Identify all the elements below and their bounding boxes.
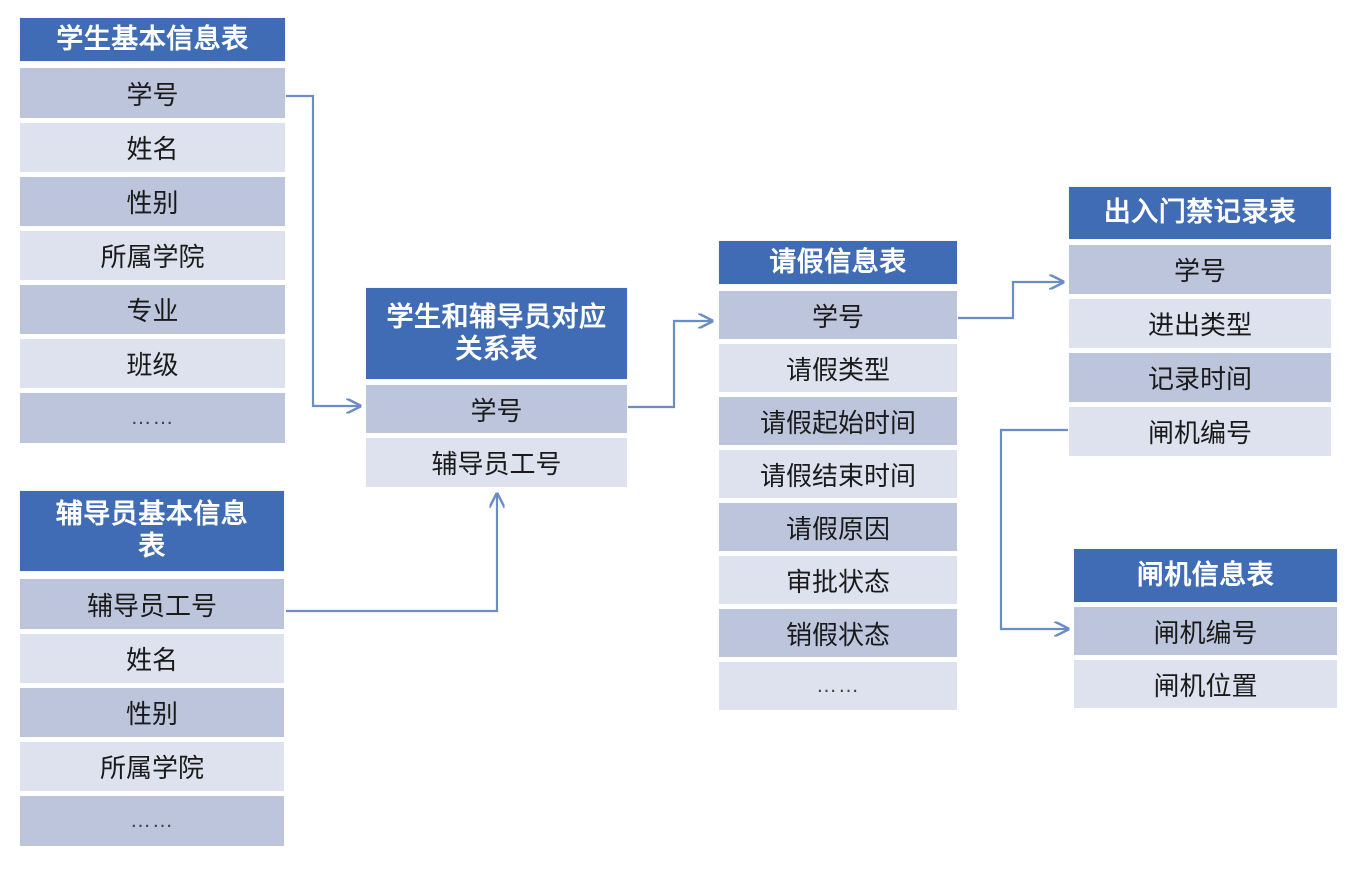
connector-leave-to-access: [958, 282, 1063, 318]
table-leave-field-2[interactable]: 请假起始时间: [718, 396, 958, 446]
table-student[interactable]: 学生基本信息表 学号 姓名 性别 所属学院 专业 班级 ……: [19, 17, 286, 444]
connector-access-to-gate: [1001, 430, 1068, 629]
table-student-counselor-relation[interactable]: 学生和辅导员对应关系表 学号 辅导员工号: [365, 287, 628, 488]
table-access-record-header: 出入门禁记录表: [1068, 186, 1332, 240]
table-access-record-field-0[interactable]: 学号: [1068, 244, 1332, 295]
table-student-field-2[interactable]: 性别: [19, 176, 286, 227]
connector-counselor-to-relation: [286, 494, 497, 611]
table-gate-header: 闸机信息表: [1073, 548, 1338, 603]
table-leave-field-3[interactable]: 请假结束时间: [718, 449, 958, 499]
table-counselor-header: 辅导员基本信息表: [19, 490, 285, 572]
table-student-field-4[interactable]: 专业: [19, 284, 286, 335]
table-student-field-0[interactable]: 学号: [19, 67, 286, 119]
table-counselor-field-1[interactable]: 姓名: [19, 633, 285, 684]
table-gate-field-1[interactable]: 闸机位置: [1073, 659, 1338, 709]
table-leave-field-4[interactable]: 请假原因: [718, 502, 958, 552]
table-gate-field-0[interactable]: 闸机编号: [1073, 606, 1338, 656]
connector-student-to-relation: [286, 96, 360, 406]
table-student-counselor-relation-header: 学生和辅导员对应关系表: [365, 287, 628, 380]
table-access-record-field-3[interactable]: 闸机编号: [1068, 406, 1332, 457]
table-student-header: 学生基本信息表: [19, 17, 286, 62]
table-leave-field-5[interactable]: 审批状态: [718, 555, 958, 605]
er-diagram-canvas: 学生基本信息表 学号 姓名 性别 所属学院 专业 班级 …… 辅导员基本信息表 …: [0, 0, 1368, 872]
table-student-field-5[interactable]: 班级: [19, 338, 286, 389]
table-leave-field-7[interactable]: ……: [718, 661, 958, 711]
connector-relation-to-leave: [628, 321, 712, 407]
table-access-record-field-2[interactable]: 记录时间: [1068, 352, 1332, 403]
table-counselor-field-0[interactable]: 辅导员工号: [19, 578, 285, 630]
table-student-counselor-relation-field-1[interactable]: 辅导员工号: [365, 437, 628, 488]
table-leave-field-6[interactable]: 销假状态: [718, 608, 958, 658]
table-counselor-field-3[interactable]: 所属学院: [19, 741, 285, 792]
table-access-record-field-1[interactable]: 进出类型: [1068, 298, 1332, 349]
table-student-field-1[interactable]: 姓名: [19, 122, 286, 173]
table-leave-header: 请假信息表: [718, 240, 958, 285]
table-leave-field-0[interactable]: 学号: [718, 290, 958, 340]
table-counselor-field-2[interactable]: 性别: [19, 687, 285, 738]
table-counselor-field-4[interactable]: ……: [19, 795, 285, 847]
table-access-record[interactable]: 出入门禁记录表 学号 进出类型 记录时间 闸机编号: [1068, 186, 1332, 457]
table-student-counselor-relation-field-0[interactable]: 学号: [365, 384, 628, 434]
table-leave[interactable]: 请假信息表 学号 请假类型 请假起始时间 请假结束时间 请假原因 审批状态 销假…: [718, 240, 958, 711]
table-gate[interactable]: 闸机信息表 闸机编号 闸机位置: [1073, 548, 1338, 709]
table-counselor[interactable]: 辅导员基本信息表 辅导员工号 姓名 性别 所属学院 ……: [19, 490, 285, 847]
table-student-field-6[interactable]: ……: [19, 392, 286, 444]
table-leave-field-1[interactable]: 请假类型: [718, 343, 958, 393]
table-student-field-3[interactable]: 所属学院: [19, 230, 286, 281]
